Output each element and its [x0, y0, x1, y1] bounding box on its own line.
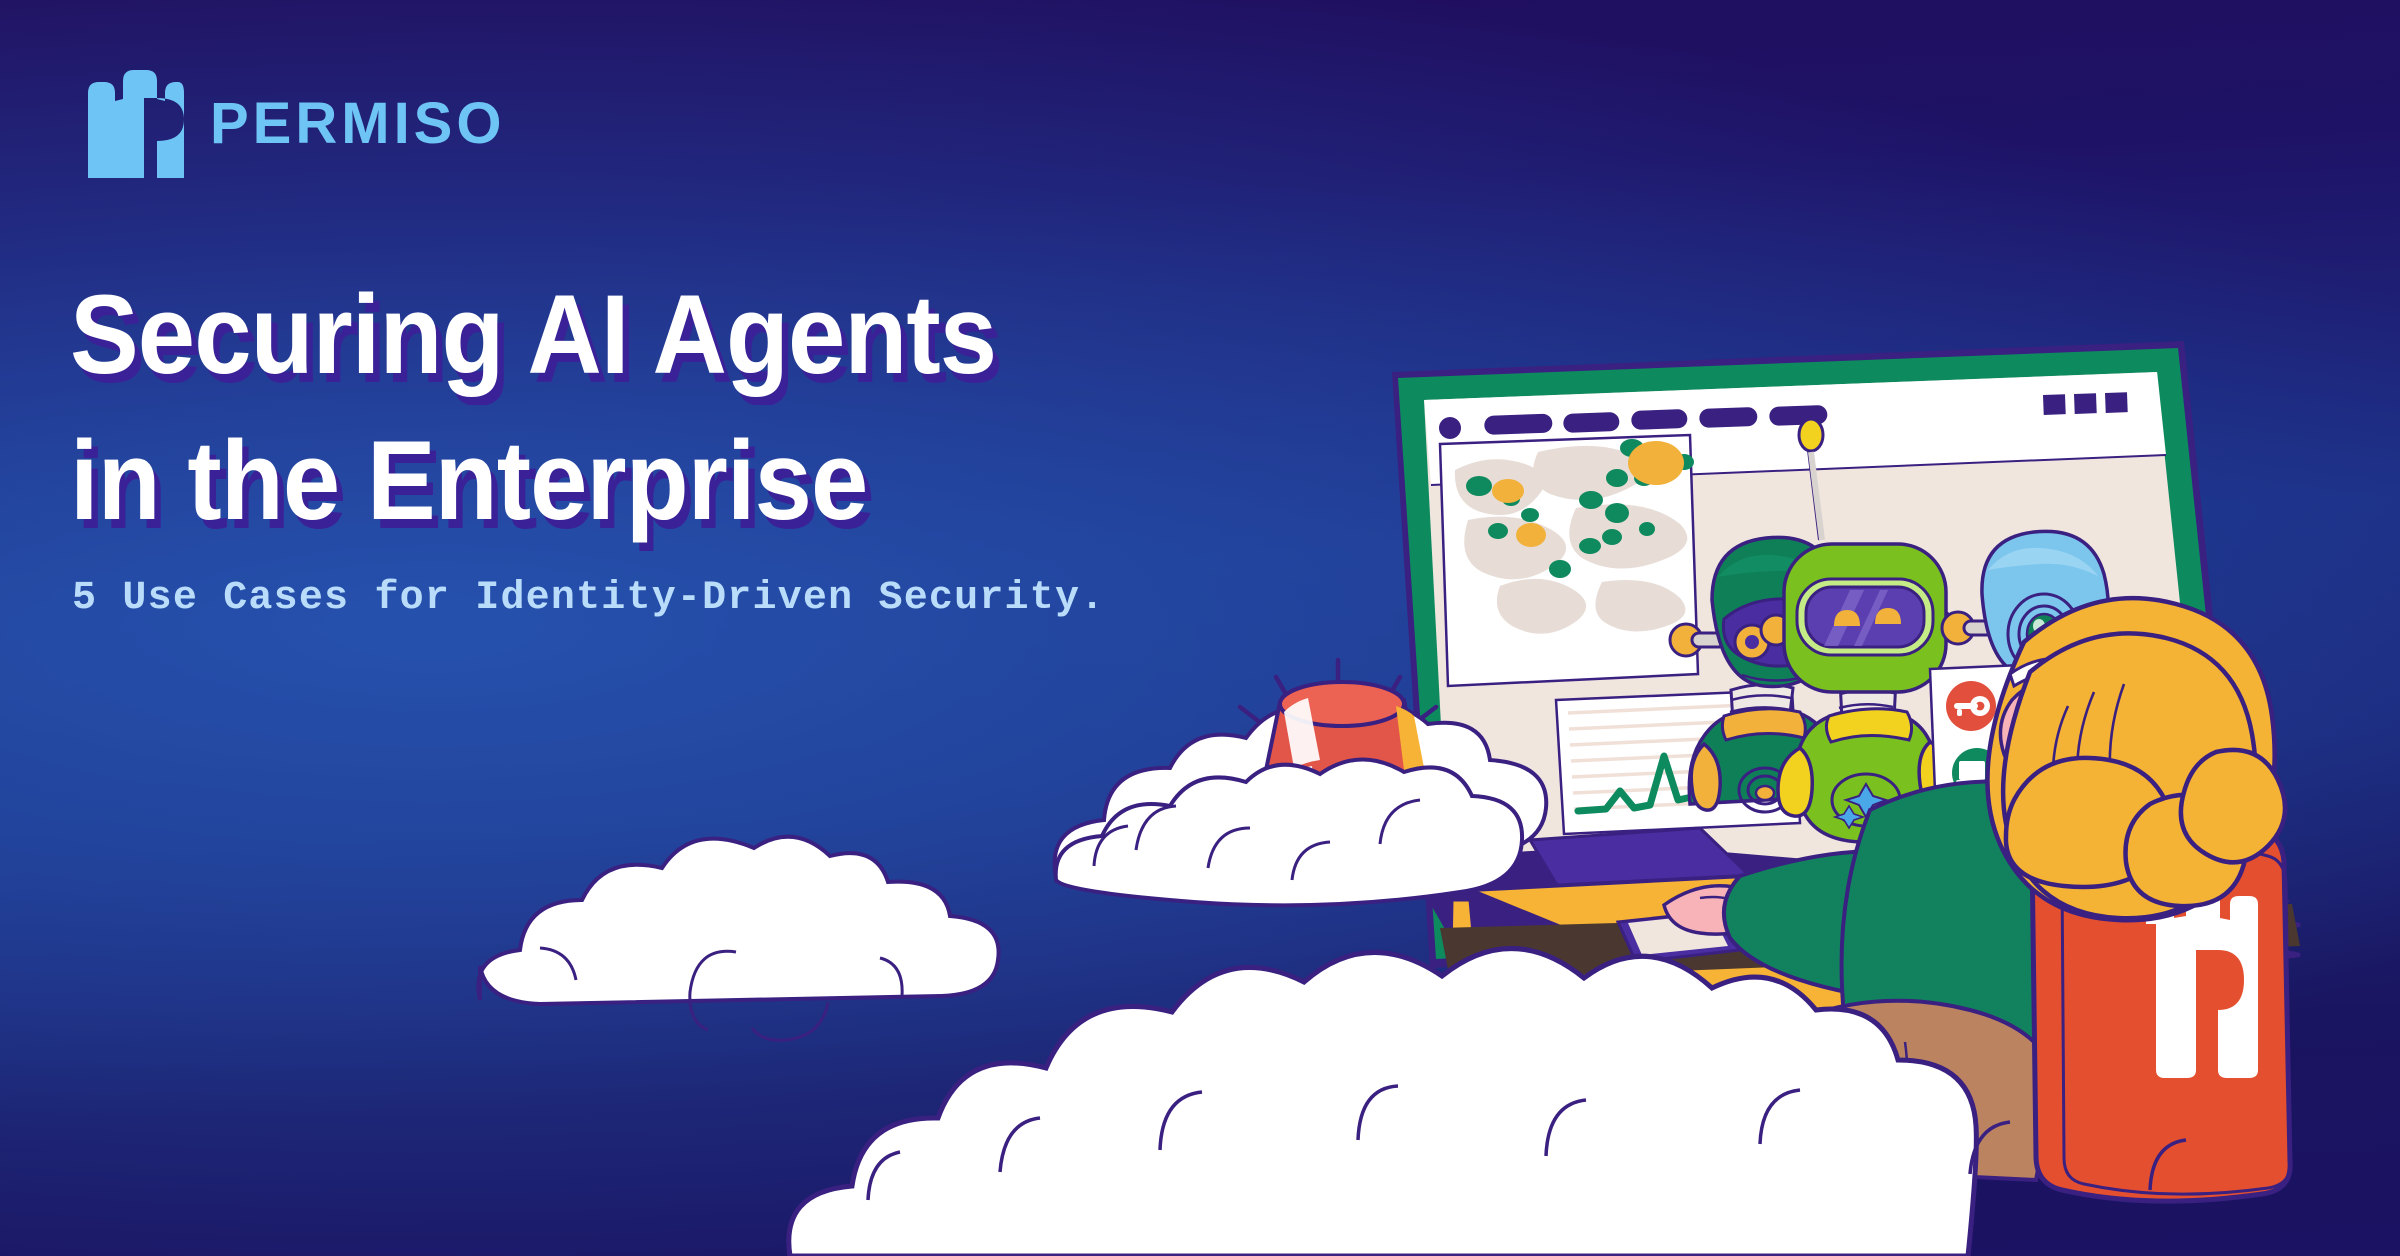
world-map-widget — [1440, 435, 1698, 686]
brand-logo[interactable]: PERMISO — [88, 70, 506, 178]
browser-dot-icon — [1439, 417, 1461, 439]
brand-wordmark: PERMISO — [210, 95, 506, 153]
page-title: Securing AI Agents in the Enterprise — [70, 262, 1200, 553]
headline-line-1: Securing AI Agents — [70, 262, 1110, 408]
permiso-castle-logo-icon — [88, 70, 184, 178]
illustration — [0, 0, 2400, 1256]
cloud-left-small — [478, 837, 998, 1041]
hero-banner: PERMISO Securing AI Agents in the Enterp… — [0, 0, 2400, 1256]
headline-line-2: in the Enterprise — [70, 408, 1110, 554]
page-subtitle: 5 Use Cases for Identity-Driven Security… — [72, 576, 1105, 621]
